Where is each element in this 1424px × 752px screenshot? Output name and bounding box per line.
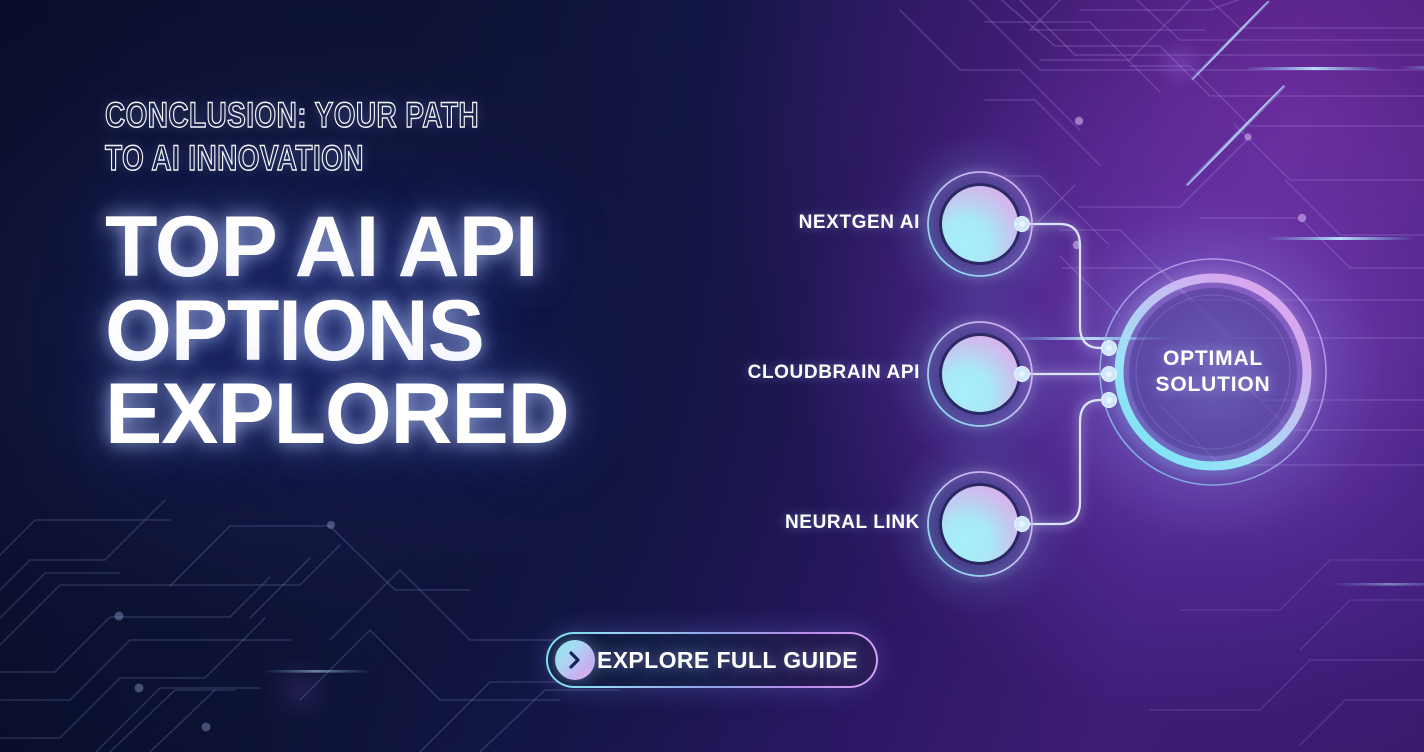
node-nextgen-ai [928, 172, 1032, 276]
node-label-nextgen-ai[interactable]: NEXTGEN AI [660, 212, 920, 234]
connector-dots [1015, 217, 1117, 532]
chevron-right-icon [555, 640, 595, 680]
node-label-cloudbrain-api[interactable]: CLOUDBRAIN API [660, 362, 920, 384]
node-label-neural-link[interactable]: NEURAL LINK [660, 512, 920, 534]
promo-banner: CONCLUSION: YOUR PATH TO AI INNOVATION T… [0, 0, 1424, 752]
connector-nextgen [1022, 224, 1107, 348]
cta-inner: EXPLORE FULL GUIDE [548, 634, 876, 686]
node-cloudbrain-api [928, 322, 1032, 426]
cta-label: EXPLORE FULL GUIDE [595, 647, 876, 674]
eyebrow-text: CONCLUSION: YOUR PATH TO AI INNOVATION [105, 95, 729, 180]
node-neural-link [928, 472, 1032, 576]
page-title: TOP AI API OPTIONS EXPLORED [105, 206, 725, 456]
explore-full-guide-button[interactable]: EXPLORE FULL GUIDE [546, 632, 878, 688]
hub-optimal-solution [1100, 259, 1326, 485]
connector-neural [1022, 400, 1107, 524]
headline-block: CONCLUSION: YOUR PATH TO AI INNOVATION T… [105, 95, 725, 457]
